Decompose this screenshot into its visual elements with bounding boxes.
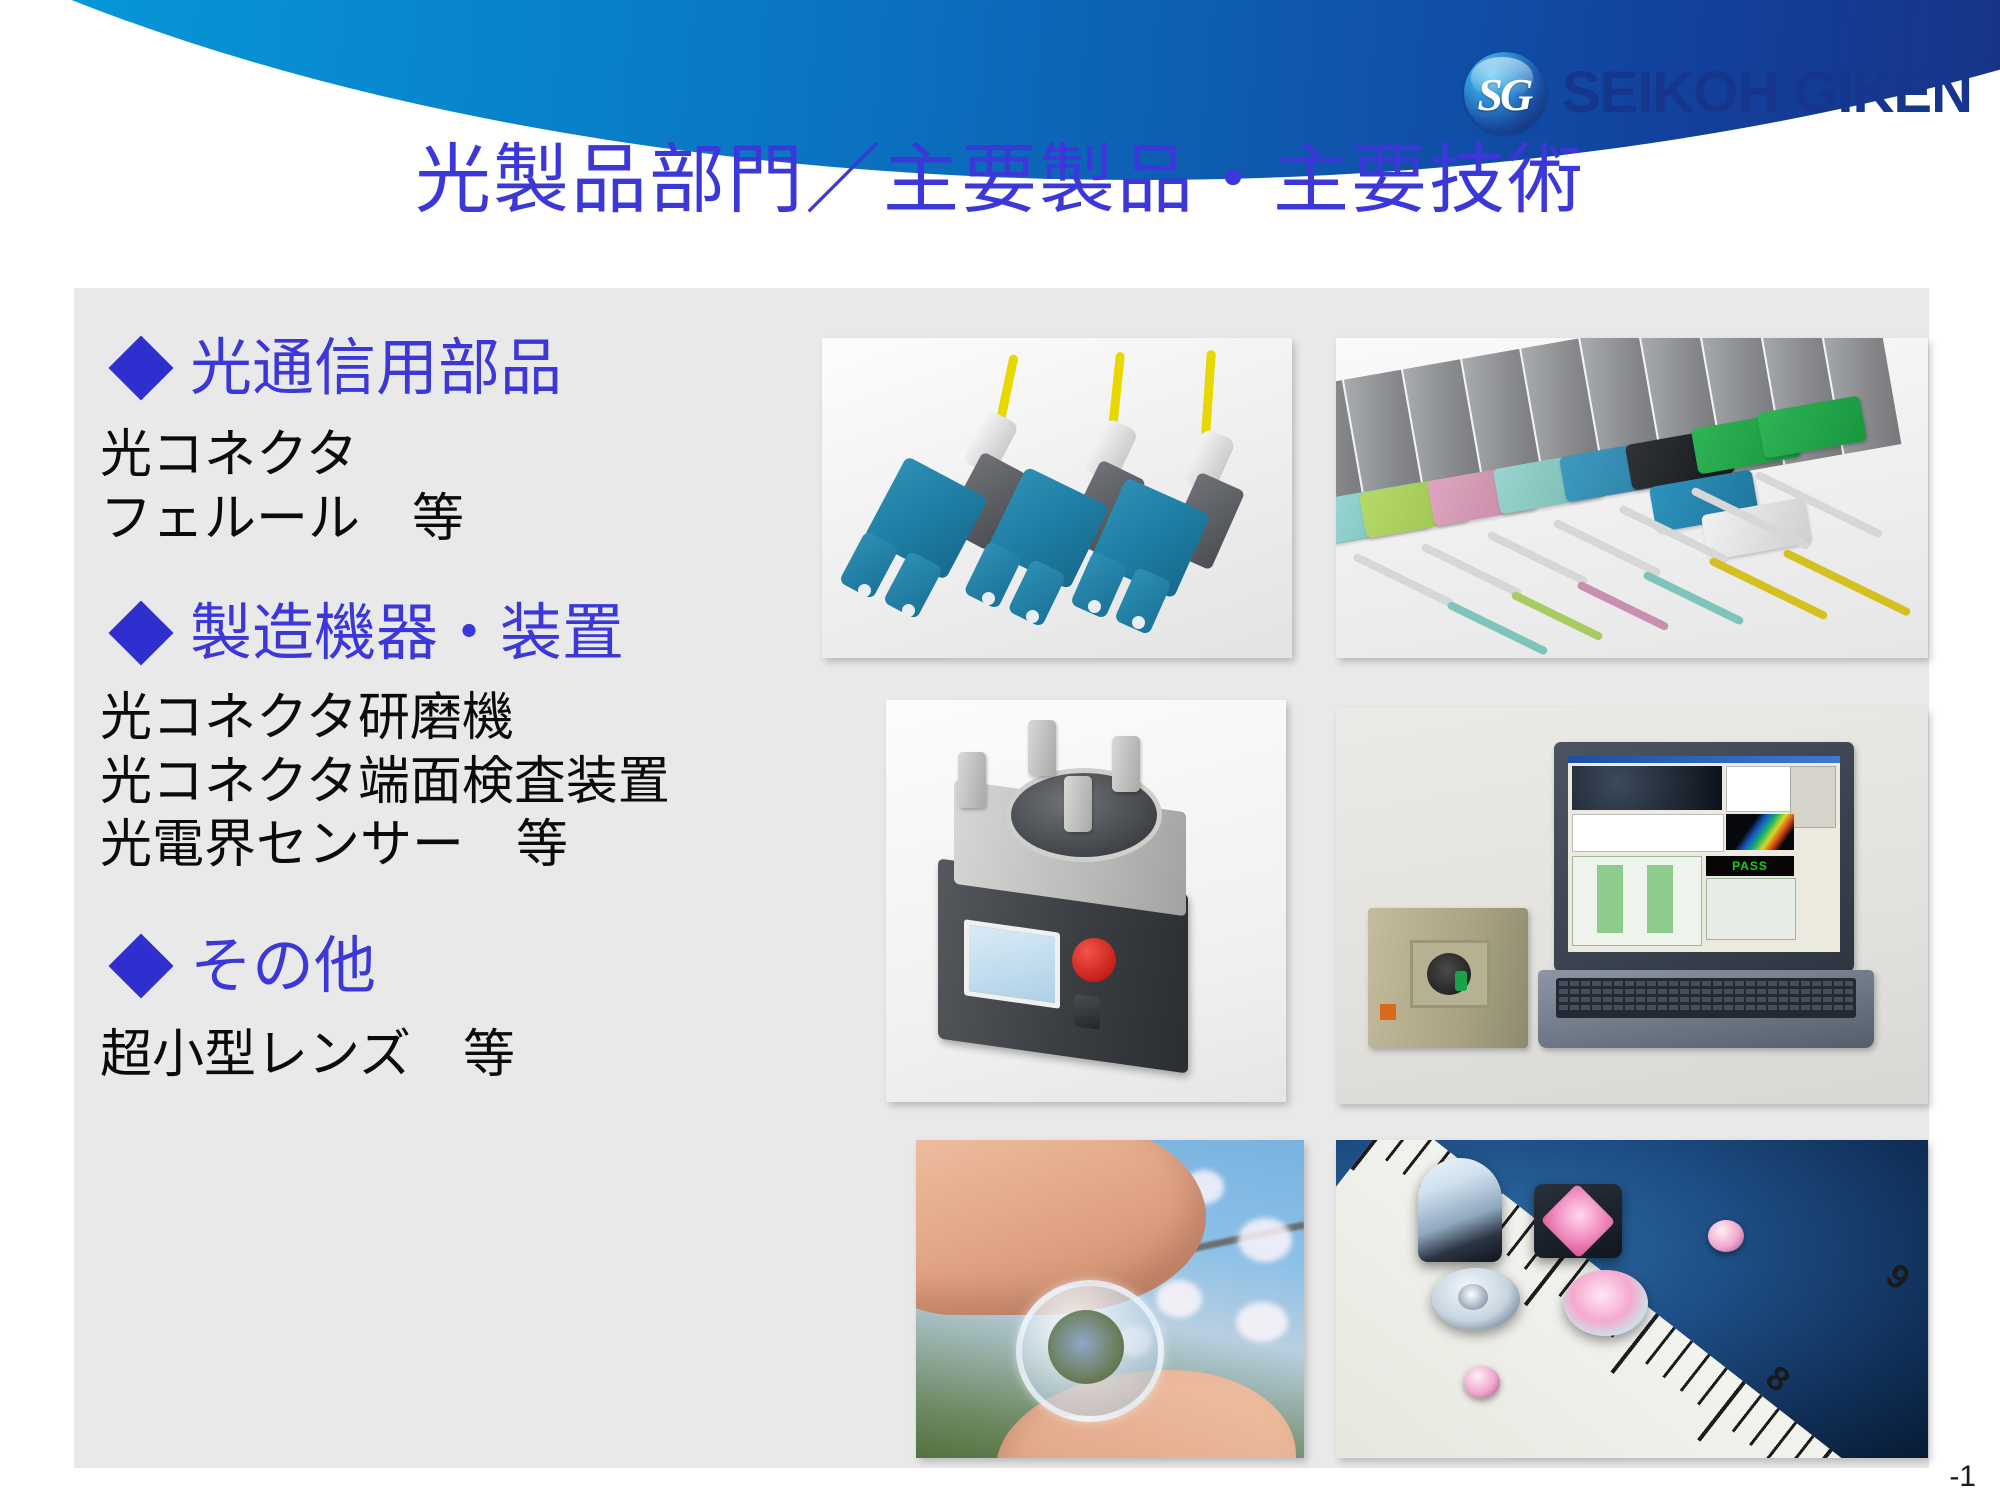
list-item: 光電界センサー 等 — [100, 814, 820, 877]
list-item: 光コネクタ — [100, 424, 820, 487]
brand-name: SEIKOH GIKEN — [1562, 64, 1972, 122]
list-item: 光コネクタ端面検査装置 — [100, 751, 820, 814]
section-line-list: 光コネクタ フェルール 等 — [100, 424, 820, 551]
fiber-polisher-photo — [886, 700, 1286, 1102]
section-others: その他 超小型レンズ 等 — [100, 932, 820, 1088]
diamond-bullet-icon — [108, 601, 173, 666]
micro-lens-in-hand-photo — [916, 1140, 1304, 1458]
section-optical-components: 光通信用部品 光コネクタ フェルール 等 — [100, 334, 820, 551]
page-title: 光製品部門／主要製品・主要技術 — [0, 118, 2000, 228]
lc-duplex-connectors-photo — [822, 338, 1292, 658]
list-item: 光コネクタ研磨機 — [100, 687, 820, 750]
endface-inspection-system-photo: PASS — [1336, 708, 1928, 1104]
section-heading-row: 光通信用部品 — [100, 334, 820, 402]
section-line-list: 光コネクタ研磨機 光コネクタ端面検査装置 光電界センサー 等 — [100, 687, 820, 877]
list-item: フェルール 等 — [100, 488, 820, 551]
section-heading-label: その他 — [190, 932, 376, 1000]
micro-lens-array-ruler-photo: 8 9 — [1336, 1140, 1928, 1458]
section-heading-label: 光通信用部品 — [190, 334, 562, 402]
sg-monogram-label: SG — [1477, 72, 1530, 118]
diamond-bullet-icon — [108, 933, 173, 998]
diamond-bullet-icon — [108, 336, 173, 401]
section-heading-row: 製造機器・装置 — [100, 599, 820, 667]
color-coded-connectors-panel-photo — [1336, 338, 1928, 658]
section-heading-row: その他 — [100, 932, 820, 1000]
section-line-list: 超小型レンズ 等 — [100, 1024, 820, 1087]
section-heading-label: 製造機器・装置 — [190, 599, 624, 667]
section-manufacturing-equipment: 製造機器・装置 光コネクタ研磨機 光コネクタ端面検査装置 光電界センサー 等 — [100, 599, 820, 878]
list-item: 超小型レンズ 等 — [100, 1024, 820, 1087]
status-badge: PASS — [1706, 856, 1794, 876]
bullet-sections: 光通信用部品 光コネクタ フェルール 等 製造機器・装置 光コネクタ研磨機 光コ… — [100, 300, 820, 1091]
page-number: -1 — [1949, 1460, 1976, 1494]
